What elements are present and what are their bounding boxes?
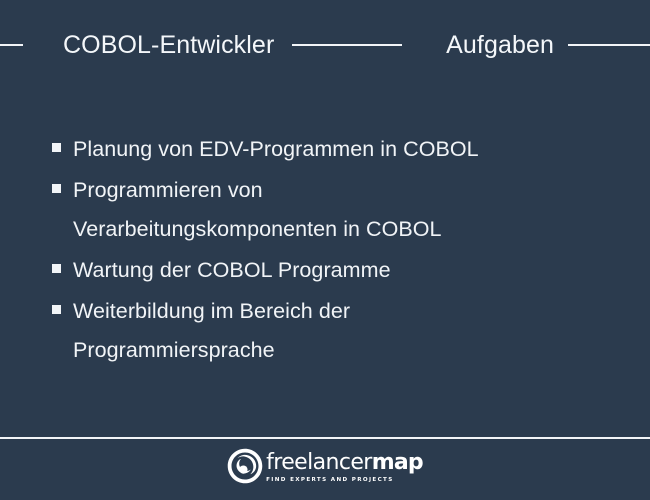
header-rule-left xyxy=(0,44,23,46)
list-item: Programmieren von Verarbeitungskomponent… xyxy=(52,171,612,249)
slide-header: COBOL-Entwickler Aufgaben xyxy=(0,24,650,66)
logo-word-light: freelancer xyxy=(266,450,372,475)
logo-inner: freelancermap FIND EXPERTS AND PROJECTS xyxy=(227,448,423,484)
logo-word-bold: map xyxy=(372,450,423,475)
aperture-logo-icon xyxy=(227,448,263,484)
logo-tagline: FIND EXPERTS AND PROJECTS xyxy=(266,476,423,484)
square-bullet-icon xyxy=(52,305,61,314)
list-item-label: Planung von EDV-Programmen in COBOL xyxy=(73,130,479,169)
task-list: Planung von EDV-Programmen in COBOL Prog… xyxy=(52,130,612,372)
logo-text-block: freelancermap FIND EXPERTS AND PROJECTS xyxy=(266,448,423,484)
list-item-label: Programmieren von Verarbeitungskomponent… xyxy=(73,171,442,249)
slide-canvas: COBOL-Entwickler Aufgaben Planung von ED… xyxy=(0,0,650,500)
header-title-right: Aufgaben xyxy=(446,33,554,58)
header-rule-middle xyxy=(292,44,402,46)
square-bullet-icon xyxy=(52,143,61,152)
list-item: Planung von EDV-Programmen in COBOL xyxy=(52,130,612,169)
list-item-label: Wartung der COBOL Programme xyxy=(73,251,391,290)
logo-wordmark: freelancermap xyxy=(266,452,423,474)
freelancermap-logo: freelancermap FIND EXPERTS AND PROJECTS xyxy=(0,448,650,484)
list-item-label: Weiterbildung im Bereich der Programmier… xyxy=(73,292,350,370)
header-rule-right xyxy=(568,44,650,46)
square-bullet-icon xyxy=(52,184,61,193)
list-item: Wartung der COBOL Programme xyxy=(52,251,612,290)
list-item: Weiterbildung im Bereich der Programmier… xyxy=(52,292,612,370)
footer-divider xyxy=(0,437,650,439)
square-bullet-icon xyxy=(52,264,61,273)
header-title-left: COBOL-Entwickler xyxy=(63,33,274,58)
